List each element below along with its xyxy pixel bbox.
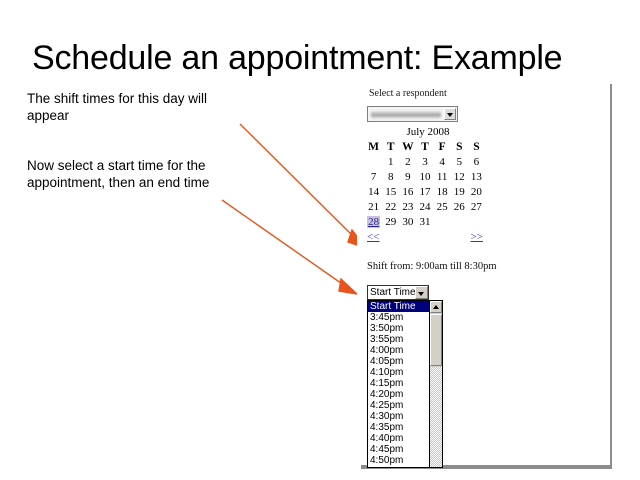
- annotation-shift-times: The shift times for this day will appear: [27, 90, 242, 124]
- list-item[interactable]: 3:45pm: [368, 312, 430, 323]
- list-item[interactable]: 4:30pm: [368, 411, 430, 422]
- scrollbar-track[interactable]: [430, 367, 442, 467]
- calendar-day[interactable]: 25: [434, 199, 451, 214]
- list-item[interactable]: 4:20pm: [368, 389, 430, 400]
- calendar-widget: July 2008 M T W T F S S: [365, 126, 485, 247]
- list-item[interactable]: 4:35pm: [368, 422, 430, 433]
- calendar-nav: << >>: [365, 231, 485, 247]
- list-item[interactable]: 4:50pm: [368, 455, 430, 466]
- calendar-next-month-link[interactable]: >>: [471, 231, 483, 243]
- start-time-select[interactable]: Start Time: [367, 285, 429, 300]
- arrow-line-1: [240, 124, 358, 241]
- calendar-day[interactable]: 20: [468, 184, 485, 199]
- list-scrollbar[interactable]: [429, 301, 442, 467]
- annotation-select-start-time: Now select a start time for the appointm…: [27, 157, 245, 191]
- calendar-weekday-row: M T W T F S S: [365, 140, 485, 154]
- calendar-day[interactable]: 11: [434, 169, 451, 184]
- arrow-head-2: [339, 279, 357, 294]
- calendar-week-row: 1 2 3 4 5 6: [365, 154, 485, 169]
- list-item[interactable]: 4:00pm: [368, 345, 430, 356]
- chevron-down-icon[interactable]: [415, 286, 428, 299]
- calendar-day[interactable]: 1: [382, 154, 399, 169]
- calendar-weekday: W: [399, 140, 416, 154]
- calendar-weekday: T: [382, 140, 399, 154]
- arrow-line-2: [222, 200, 348, 288]
- list-item[interactable]: 4:25pm: [368, 400, 430, 411]
- calendar-day[interactable]: 27: [468, 199, 485, 214]
- list-item[interactable]: 3:55pm: [368, 334, 430, 345]
- calendar-day[interactable]: 12: [451, 169, 468, 184]
- list-item[interactable]: 4:05pm: [368, 356, 430, 367]
- calendar-weekday: F: [434, 140, 451, 154]
- calendar-weekday: T: [416, 140, 433, 154]
- calendar-day[interactable]: 2: [399, 154, 416, 169]
- calendar-day: [451, 214, 468, 229]
- calendar-month-label: July 2008: [365, 126, 485, 138]
- calendar-week-row: 28 29 30 31: [365, 214, 485, 229]
- calendar-table: M T W T F S S 1 2 3 4: [365, 140, 485, 229]
- list-item[interactable]: 4:40pm: [368, 433, 430, 444]
- calendar-day[interactable]: 7: [365, 169, 382, 184]
- calendar-day: [468, 214, 485, 229]
- calendar-day[interactable]: 9: [399, 169, 416, 184]
- calendar-day[interactable]: 24: [416, 199, 433, 214]
- scrollbar-thumb[interactable]: [430, 314, 442, 366]
- list-item[interactable]: Start Time: [368, 301, 430, 312]
- calendar-day[interactable]: 18: [434, 184, 451, 199]
- calendar-day[interactable]: 10: [416, 169, 433, 184]
- respondent-select[interactable]: [367, 106, 458, 122]
- calendar-day[interactable]: 22: [382, 199, 399, 214]
- calendar-weekday: M: [365, 140, 382, 154]
- calendar-day: [434, 214, 451, 229]
- calendar-day: [365, 154, 382, 169]
- calendar-day[interactable]: 16: [399, 184, 416, 199]
- calendar-day[interactable]: 31: [416, 214, 433, 229]
- calendar-day[interactable]: 13: [468, 169, 485, 184]
- calendar-day[interactable]: 3: [416, 154, 433, 169]
- calendar-day[interactable]: 30: [399, 214, 416, 229]
- calendar-week-row: 21 22 23 24 25 26 27: [365, 199, 485, 214]
- shift-hours-text: Shift from: 9:00am till 8:30pm: [367, 261, 497, 272]
- embedded-screenshot: Select a respondent July 2008 M T W T F …: [357, 80, 610, 465]
- respondent-label: Select a respondent: [369, 88, 447, 99]
- calendar-day[interactable]: 21: [365, 199, 382, 214]
- page-title: Schedule an appointment: Example: [32, 38, 612, 78]
- slide-canvas: Schedule an appointment: Example The shi…: [0, 0, 640, 480]
- respondent-selected-value: [371, 111, 441, 119]
- calendar-day[interactable]: 8: [382, 169, 399, 184]
- calendar-day[interactable]: 26: [451, 199, 468, 214]
- list-item[interactable]: 3:50pm: [368, 323, 430, 334]
- calendar-day-selected-label: 28: [367, 216, 380, 228]
- list-item[interactable]: 4:10pm: [368, 367, 430, 378]
- chevron-up-icon[interactable]: [430, 301, 442, 313]
- calendar-week-row: 14 15 16 17 18 19 20: [365, 184, 485, 199]
- calendar-day[interactable]: 15: [382, 184, 399, 199]
- calendar-weekday: S: [451, 140, 468, 154]
- calendar-day[interactable]: 17: [416, 184, 433, 199]
- calendar-day[interactable]: 4: [434, 154, 451, 169]
- calendar-week-row: 7 8 9 10 11 12 13: [365, 169, 485, 184]
- calendar-weekday: S: [468, 140, 485, 154]
- calendar-prev-month-link[interactable]: <<: [367, 231, 379, 243]
- calendar-day[interactable]: 5: [451, 154, 468, 169]
- calendar-day[interactable]: 6: [468, 154, 485, 169]
- list-item[interactable]: 4:15pm: [368, 378, 430, 389]
- start-time-option-list[interactable]: Start Time 3:45pm 3:50pm 3:55pm 4:00pm 4…: [367, 300, 443, 468]
- calendar-day[interactable]: 19: [451, 184, 468, 199]
- list-item[interactable]: 4:55pm: [368, 466, 430, 468]
- calendar-day[interactable]: 29: [382, 214, 399, 229]
- start-time-select-label: Start Time: [370, 287, 416, 298]
- calendar-day[interactable]: 23: [399, 199, 416, 214]
- calendar-day[interactable]: 14: [365, 184, 382, 199]
- list-item[interactable]: 4:45pm: [368, 444, 430, 455]
- calendar-day-selected[interactable]: 28: [365, 214, 382, 229]
- chevron-down-icon[interactable]: [444, 108, 456, 120]
